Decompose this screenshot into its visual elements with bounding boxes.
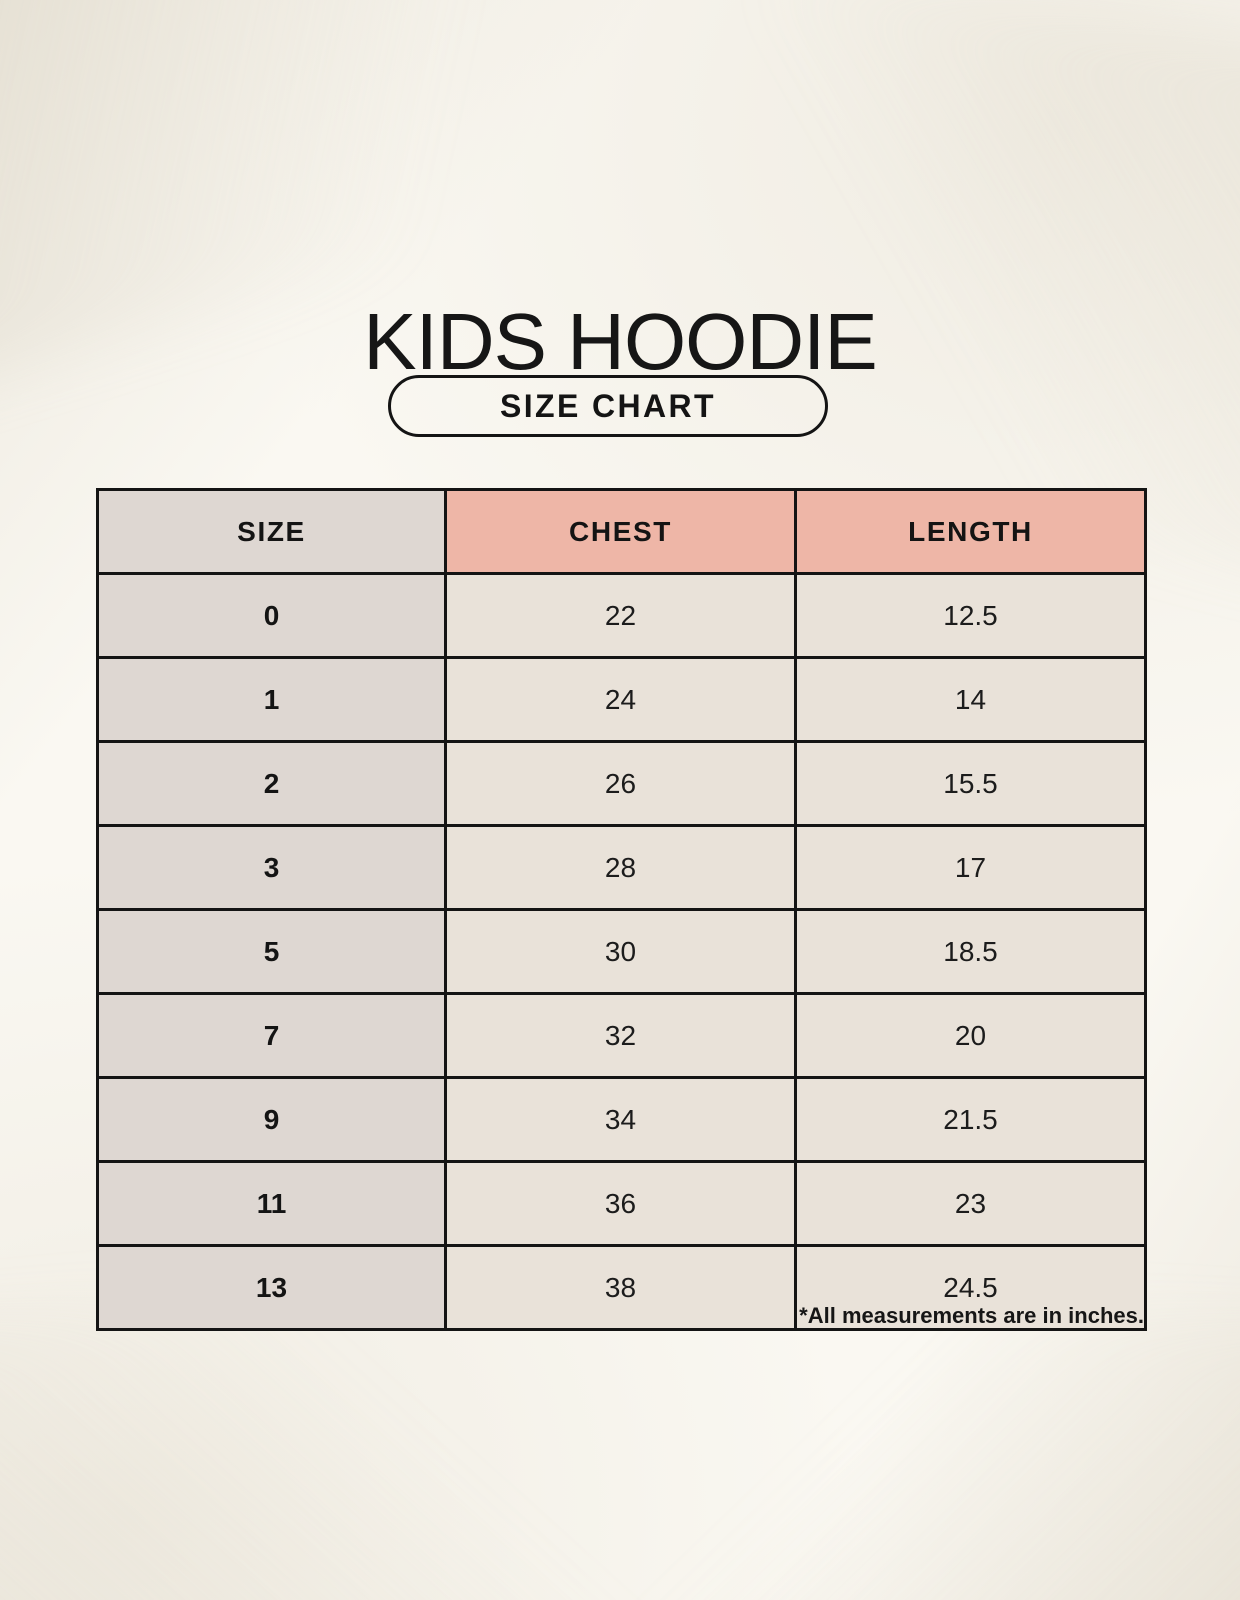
cell-length: 20 (796, 994, 1146, 1078)
table-row: 5 30 18.5 (98, 910, 1146, 994)
cell-size: 1 (98, 658, 446, 742)
cell-length: 14 (796, 658, 1146, 742)
column-header-chest-label: CHEST (569, 516, 672, 547)
table-row: 7 32 20 (98, 994, 1146, 1078)
cell-chest: 24 (446, 658, 796, 742)
cell-size: 9 (98, 1078, 446, 1162)
cell-size: 7 (98, 994, 446, 1078)
table-row: 1 24 14 (98, 658, 1146, 742)
column-header-size: SIZE (98, 490, 446, 574)
table-row: 2 26 15.5 (98, 742, 1146, 826)
size-chart-badge: SIZE CHART (388, 375, 828, 437)
cell-size: 2 (98, 742, 446, 826)
table-row: 11 36 23 (98, 1162, 1146, 1246)
cell-length: 18.5 (796, 910, 1146, 994)
cell-size: 0 (98, 574, 446, 658)
cell-size: 3 (98, 826, 446, 910)
cell-length: 17 (796, 826, 1146, 910)
cell-chest: 36 (446, 1162, 796, 1246)
cell-chest: 32 (446, 994, 796, 1078)
cell-chest: 30 (446, 910, 796, 994)
size-chart-table: SIZE CHEST LENGTH 0 22 12.5 (96, 488, 1147, 1331)
cell-chest: 28 (446, 826, 796, 910)
column-header-length-label: LENGTH (908, 516, 1033, 547)
page-title: KIDS HOODIE (0, 297, 1240, 387)
size-chart-page: KIDS HOODIE SIZE CHART SIZE CHES (0, 0, 1240, 1600)
cell-length: 12.5 (796, 574, 1146, 658)
cell-length: 15.5 (796, 742, 1146, 826)
cell-length: 21.5 (796, 1078, 1146, 1162)
table-row: 0 22 12.5 (98, 574, 1146, 658)
measurement-units-note: *All measurements are in inches. (96, 1303, 1144, 1329)
cell-chest: 26 (446, 742, 796, 826)
cell-length: 23 (796, 1162, 1146, 1246)
column-header-length: LENGTH (796, 490, 1146, 574)
cell-size: 11 (98, 1162, 446, 1246)
cell-size: 5 (98, 910, 446, 994)
column-header-chest: CHEST (446, 490, 796, 574)
table-row: 9 34 21.5 (98, 1078, 1146, 1162)
size-chart-badge-label: SIZE CHART (500, 388, 716, 425)
size-chart-table-wrapper: SIZE CHEST LENGTH 0 22 12.5 (96, 488, 1144, 1331)
column-header-size-label: SIZE (237, 516, 306, 547)
table-header-row: SIZE CHEST LENGTH (98, 490, 1146, 574)
table-row: 3 28 17 (98, 826, 1146, 910)
cell-chest: 34 (446, 1078, 796, 1162)
cell-chest: 22 (446, 574, 796, 658)
